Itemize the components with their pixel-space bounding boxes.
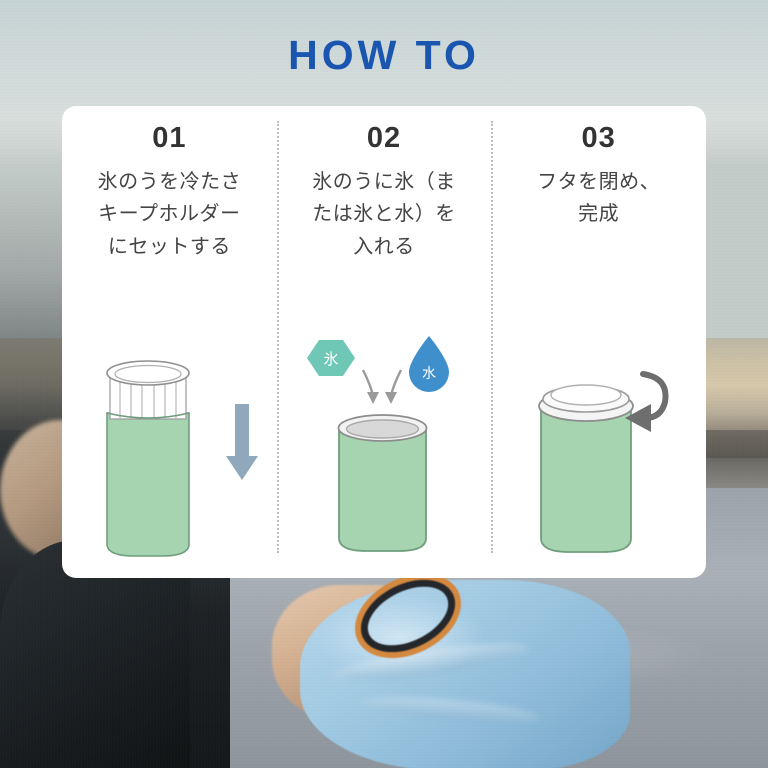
screenshot-root: HOW TO 01 氷のうを冷たさ キープホルダー にセットする bbox=[0, 0, 768, 768]
step-03: 03 フタを閉め、 完成 bbox=[491, 106, 706, 578]
step-number: 01 bbox=[152, 123, 186, 155]
step-01-illustration bbox=[62, 336, 277, 566]
ice-badge-label: 氷 bbox=[323, 351, 338, 368]
step-number: 02 bbox=[367, 123, 401, 155]
holder-with-ice-bag-insert-icon bbox=[79, 351, 219, 566]
pour-ice-and-water-icon: 氷 水 bbox=[297, 336, 472, 566]
step-number: 03 bbox=[582, 123, 616, 155]
close-lid-complete-icon bbox=[511, 366, 686, 566]
how-to-card: 01 氷のうを冷たさ キープホルダー にセットする bbox=[62, 106, 706, 578]
water-badge-label: 水 bbox=[422, 365, 436, 381]
insert-down-arrow-icon bbox=[225, 404, 259, 488]
step-01: 01 氷のうを冷たさ キープホルダー にセットする bbox=[62, 106, 277, 578]
step-description: 氷のうに氷（ま たは氷と水）を 入れる bbox=[312, 166, 456, 263]
step-description: フタを閉め、 完成 bbox=[537, 166, 660, 231]
step-03-illustration bbox=[491, 336, 706, 566]
step-description: 氷のうを冷たさ キープホルダー にセットする bbox=[98, 166, 242, 263]
ice-badge-icon: 氷 bbox=[307, 340, 355, 376]
step-02: 02 氷のうに氷（ま たは氷と水）を 入れる 氷 水 bbox=[277, 106, 492, 578]
step-02-illustration: 氷 水 bbox=[277, 336, 492, 566]
water-badge-icon: 水 bbox=[409, 336, 449, 392]
page-title: HOW TO bbox=[0, 32, 768, 79]
